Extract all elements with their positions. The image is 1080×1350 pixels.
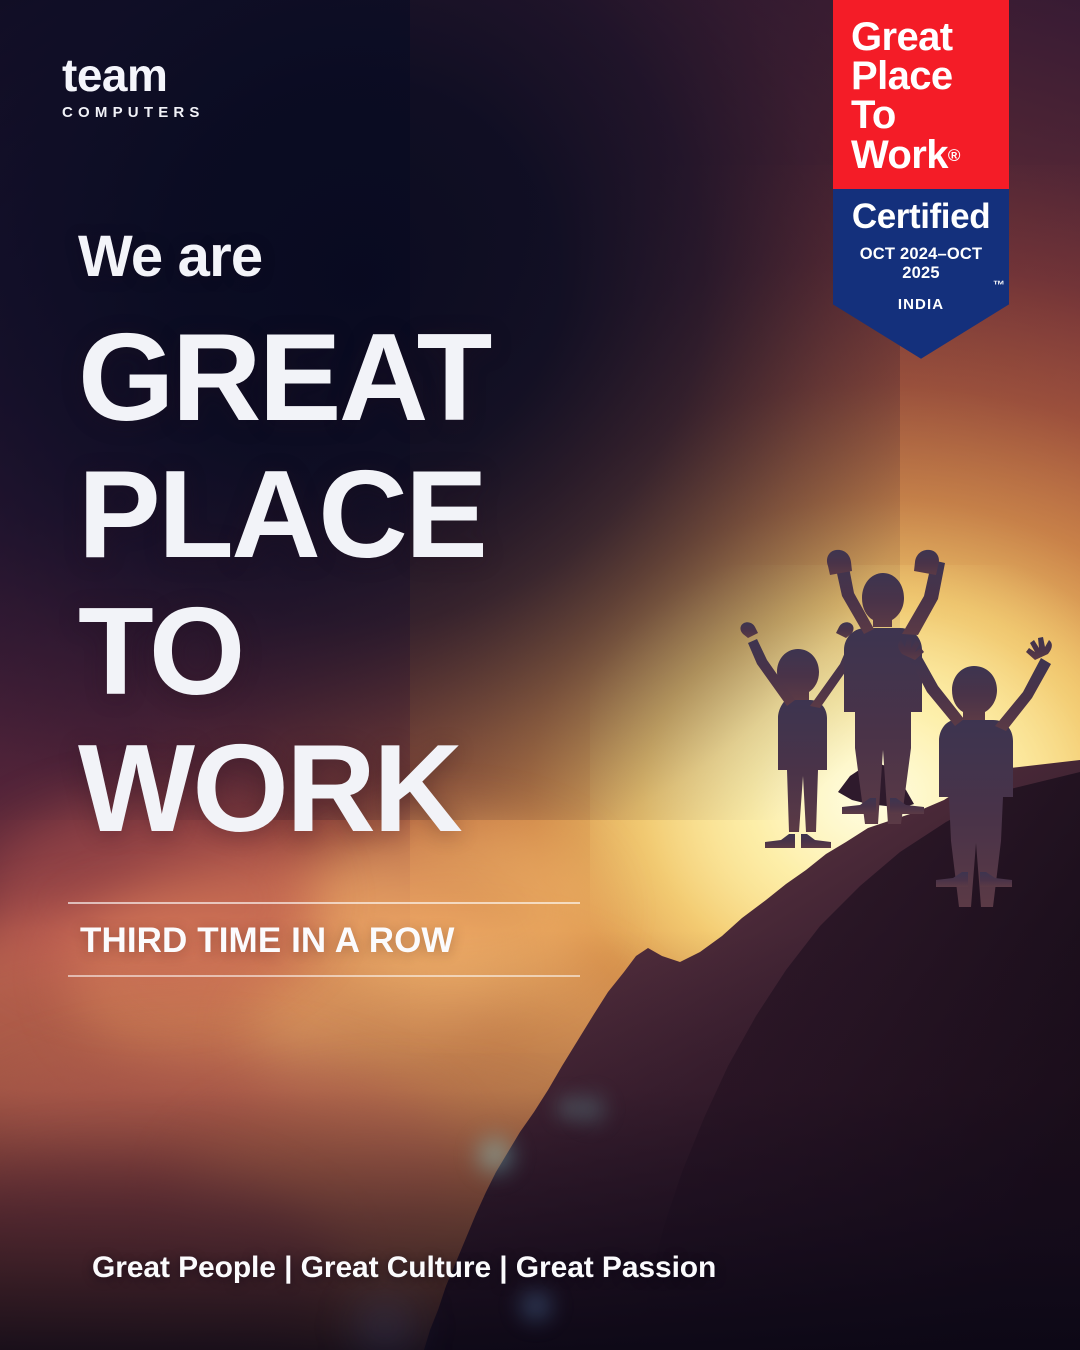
badge-line-place: Place — [851, 57, 993, 96]
badge-certified-label: Certified — [847, 199, 995, 234]
badge-country-label: INDIA — [847, 296, 995, 313]
company-logo: team COMPUTERS — [62, 52, 205, 120]
lens-flare-bokeh — [574, 1092, 608, 1126]
lens-flare-bokeh — [516, 1288, 556, 1324]
trademark-icon: ™ — [993, 278, 1006, 292]
poster: team COMPUTERS Great Place To Work® Cert… — [0, 0, 1080, 1350]
silhouette-left-person — [740, 622, 858, 848]
badge-validity-dates: OCT 2024–OCT 2025 — [847, 245, 995, 283]
hero-headline: We are GREAT PLACE TO WORK — [78, 228, 490, 858]
headline-line-place: PLACE — [78, 447, 490, 584]
subtitle-text: THIRD TIME IN A ROW — [68, 904, 580, 975]
divider-bottom — [68, 975, 580, 977]
headline-eyebrow: We are — [78, 228, 490, 286]
badge-line-to: To — [851, 96, 993, 135]
footer-tagline: Great People | Great Culture | Great Pas… — [92, 1253, 716, 1283]
bottom-haze — [0, 930, 1080, 1350]
badge-navy-panel: Certified OCT 2024–OCT 2025 INDIA — [833, 189, 1009, 359]
lens-flare-bokeh — [350, 1300, 420, 1350]
lens-flare-bokeh — [472, 1132, 518, 1178]
headline-line-great: GREAT — [78, 310, 490, 447]
headline-line-work: WORK — [78, 721, 490, 858]
headline-main: GREAT PLACE TO WORK — [78, 310, 490, 858]
logo-wordmark: team — [62, 52, 205, 98]
badge-red-panel: Great Place To Work® — [833, 0, 1009, 189]
subtitle-block: THIRD TIME IN A ROW — [68, 902, 580, 977]
gptw-certification-badge: Great Place To Work® Certified OCT 2024–… — [833, 0, 1009, 359]
headline-line-to: TO — [78, 584, 490, 721]
badge-line-work: Work® — [851, 136, 993, 175]
registered-mark-icon: ® — [948, 145, 961, 164]
logo-subtext: COMPUTERS — [62, 105, 205, 120]
badge-work-text: Work — [851, 133, 948, 177]
badge-line-great: Great — [851, 18, 993, 57]
